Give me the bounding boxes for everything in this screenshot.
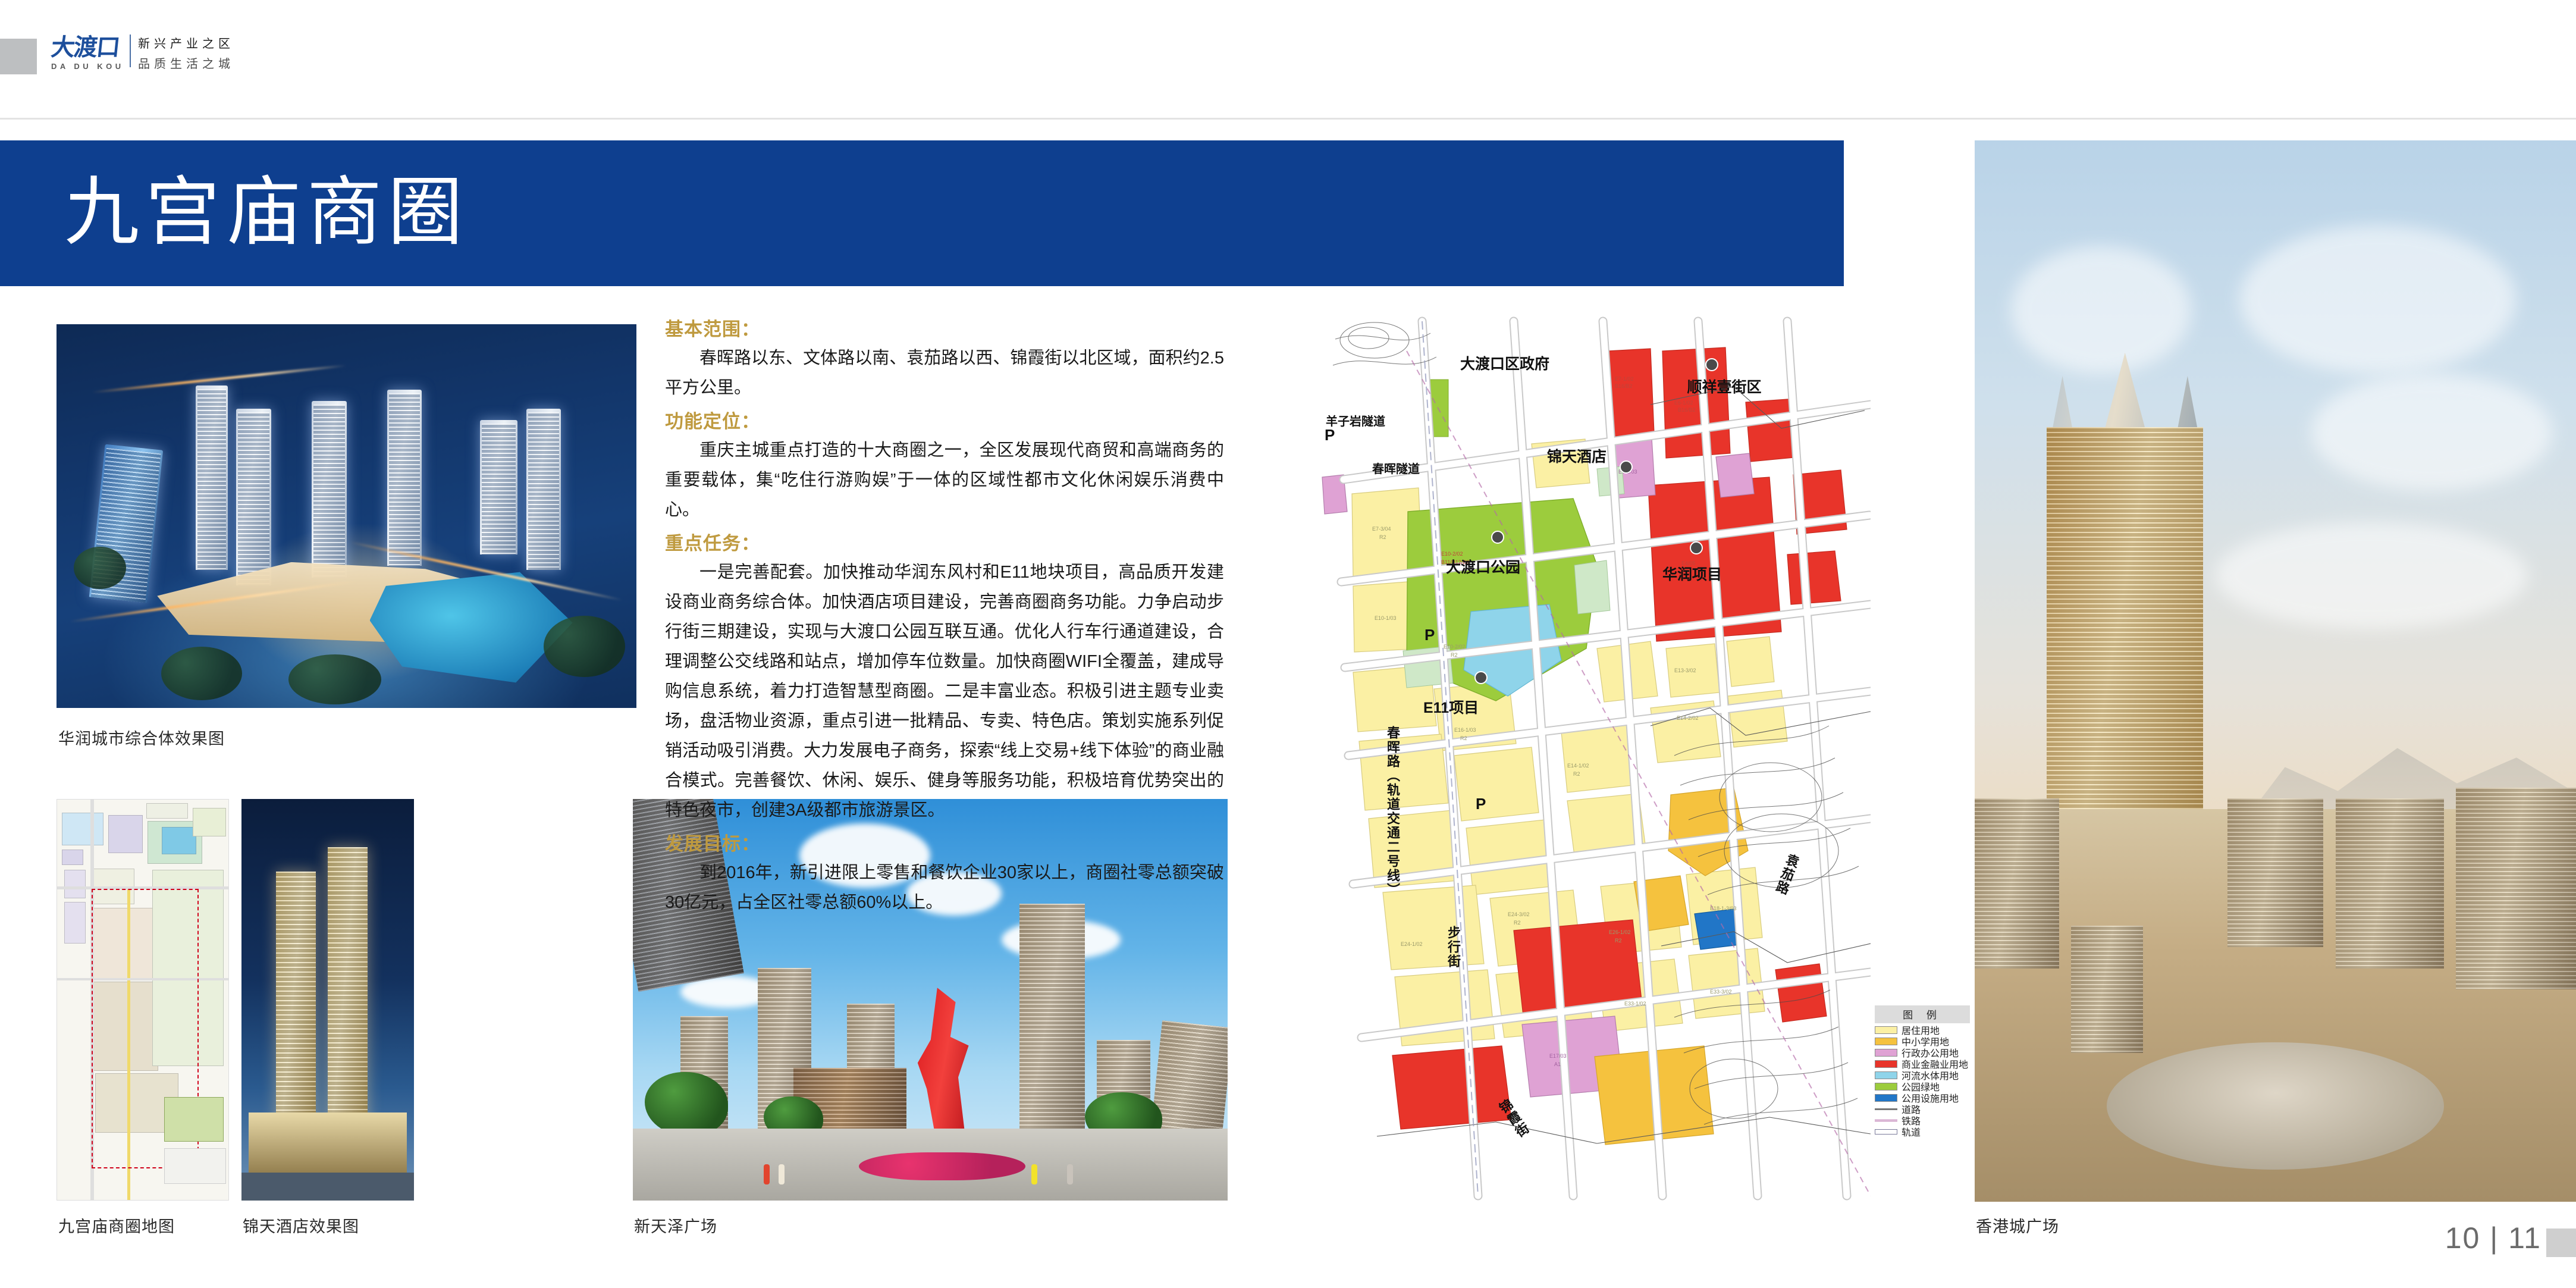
legend-item: 河流水体用地	[1875, 1070, 1970, 1080]
tower	[526, 409, 561, 570]
svg-text:E6-1/02: E6-1/02	[1674, 400, 1693, 406]
photo-huarun-complex	[57, 324, 636, 708]
map-poi-dot	[1690, 541, 1703, 554]
legend-line-railway	[1875, 1120, 1897, 1121]
tower	[196, 386, 228, 570]
svg-text:E16-1/03: E16-1/03	[1454, 727, 1476, 733]
svg-text:B16/B2: B16/B2	[1615, 383, 1633, 389]
map-legend-box	[164, 1097, 224, 1142]
tower	[312, 401, 347, 578]
section-text-goals: 到2016年，新引进限上零售和餐饮企业30家以上，商圈社零总额突破30亿元，占全…	[665, 858, 1224, 917]
map-label-shunxiang-street: 顺祥壹街区	[1683, 376, 1766, 399]
map-block	[62, 813, 103, 845]
svg-text:E18-1-3/03: E18-1-3/03	[1710, 905, 1737, 911]
svg-text:E14-1/02: E14-1/02	[1567, 763, 1589, 769]
body-text-column: 基本范围： 春晖路以东、文体路以南、袁茄路以西、锦霞街以北区域，面积约2.5平方…	[665, 314, 1224, 917]
section-text-position: 重庆主城重点打造的十大商圈之一，全区发展现代商贸和高端商务的重要载体，集“吃住行…	[665, 435, 1224, 525]
legend-item: 道路	[1875, 1104, 1970, 1114]
logo-tagline-line2: 品质生活之城	[138, 54, 234, 71]
svg-text:E7-1/02: E7-1/02	[1615, 376, 1634, 382]
section-heading-goals: 发展目标：	[665, 829, 1224, 855]
map-legend: 图 例 居住用地 中小学用地 行政办公用地 商业金融业用地 河流水体用地 公园绿…	[1875, 1005, 1970, 1136]
svg-text:E24-3/02: E24-3/02	[1508, 911, 1530, 917]
legend-item: 轨道	[1875, 1127, 1970, 1136]
tree-cluster	[288, 654, 381, 704]
map-label-district-government: 大渡口区政府	[1460, 352, 1549, 374]
logo-divider	[130, 35, 131, 67]
section-heading-scope: 基本范围：	[665, 314, 1224, 341]
tree-cluster	[74, 547, 126, 589]
skyline-building	[2456, 788, 2576, 989]
pedestrian	[764, 1164, 770, 1184]
map-poi-dot	[1705, 358, 1718, 371]
page-title: 九宫庙商圈	[64, 175, 469, 250]
map-block	[193, 808, 226, 836]
legend-item: 居住用地	[1875, 1025, 1970, 1035]
svg-text:E13-3/02: E13-3/02	[1674, 667, 1696, 673]
caption-hongkong: 香港城广场	[1976, 1214, 2059, 1237]
tower	[480, 420, 517, 554]
page-number-swatch	[2546, 1229, 2576, 1257]
pedestrian	[779, 1164, 785, 1184]
legend-item: 商业金融业用地	[1875, 1059, 1970, 1068]
map-poi-dot	[1474, 671, 1488, 684]
map-street-pedestrian-street: 步行街	[1444, 926, 1463, 969]
svg-text:R2: R2	[1615, 938, 1622, 944]
map-street-chunhui-tunnel: 春晖隧道	[1372, 459, 1420, 477]
legend-swatch-residential	[1875, 1026, 1897, 1034]
svg-text:E7-3/04: E7-3/04	[1372, 526, 1391, 532]
svg-text:R2: R2	[1451, 652, 1458, 658]
landmark-tower	[1019, 904, 1085, 1137]
logo-corner-swatch	[0, 39, 37, 74]
svg-text:E17/03: E17/03	[1549, 1053, 1567, 1059]
legend-item: 铁路	[1875, 1115, 1970, 1125]
svg-text:A1: A1	[1554, 1061, 1561, 1067]
tree-cluster	[544, 616, 625, 677]
map-block	[146, 803, 188, 819]
zoning-plan-map: E7-3/04 R2 E10-1/03 E10-2/02 R2 E16-1/03…	[1317, 315, 1871, 1202]
legend-item: 中小学用地	[1875, 1036, 1970, 1046]
photo-tourist-map	[57, 799, 229, 1201]
hotel-plaza	[241, 1173, 414, 1201]
legend-line-metro	[1875, 1129, 1897, 1135]
tree-cluster	[161, 647, 243, 700]
map-block	[108, 815, 143, 853]
svg-text:E14-2/02: E14-2/02	[1677, 715, 1699, 721]
legend-swatch-administrative	[1875, 1049, 1897, 1057]
parking-marker-icon: P	[1325, 426, 1335, 444]
map-label-huarun-project: 华润项目	[1662, 563, 1722, 584]
header-divider-rule	[0, 118, 2576, 120]
page-header: 大渡口 DA DU KOU 新兴产业之区 品质生活之城	[0, 0, 2576, 119]
skyline-building	[2336, 798, 2444, 968]
logo-tagline-line1: 新兴产业之区	[138, 34, 234, 51]
flower-bed	[859, 1152, 1025, 1180]
legend-item: 公园绿地	[1875, 1082, 1970, 1091]
map-label-jintian-hotel: 锦天酒店	[1547, 445, 1607, 466]
map-legend-key-box	[164, 1148, 226, 1184]
brochure-page: 大渡口 DA DU KOU 新兴产业之区 品质生活之城 九宫庙商圈 华润城市综合…	[0, 0, 2576, 1288]
cloud	[2311, 374, 2552, 490]
map-label-dadukou-park: 大渡口公园	[1446, 556, 1520, 577]
legend-swatch-utility	[1875, 1094, 1897, 1102]
map-block	[64, 870, 86, 898]
caption-huarun: 华润城市综合体效果图	[58, 726, 225, 749]
logo-wordmark: 大渡口	[50, 35, 127, 61]
legend-swatch-commercial	[1875, 1060, 1897, 1068]
hotel-tower-right	[328, 847, 368, 1129]
caption-tourist-map: 九宫庙商圈地图	[58, 1214, 175, 1237]
tower	[387, 390, 422, 566]
map-poi-dot	[1491, 531, 1504, 544]
cloud	[2011, 246, 2191, 374]
skyline-building	[2227, 798, 2324, 947]
caption-plaza: 新天泽广场	[634, 1214, 717, 1237]
legend-item: 公用设施用地	[1875, 1093, 1970, 1102]
skyline-building	[2071, 926, 2143, 1053]
parking-marker-icon: P	[1425, 626, 1435, 644]
svg-text:E33-3/02: E33-3/02	[1710, 989, 1732, 995]
map-block	[64, 902, 86, 944]
logo-pinyin: DA DU KOU	[51, 62, 128, 71]
hotel-tower-left	[276, 872, 316, 1129]
svg-text:E10-2/02: E10-2/02	[1444, 644, 1466, 650]
svg-text:R2: R2	[1573, 771, 1580, 777]
legend-label: 轨道	[1902, 1124, 1921, 1139]
section-text-scope: 春晖路以东、文体路以南、袁茄路以西、锦霞街以北区域，面积约2.5平方公里。	[665, 343, 1224, 403]
pedestrian	[1067, 1164, 1073, 1184]
legend-line-road	[1875, 1108, 1897, 1110]
legend-swatch-water	[1875, 1071, 1897, 1079]
svg-text:E26-1/02: E26-1/02	[1609, 929, 1631, 935]
cloud	[2239, 225, 2516, 374]
section-heading-tasks: 重点任务：	[665, 528, 1224, 555]
svg-text:B16/B2: B16/B2	[1678, 407, 1696, 413]
photo-hongkong-city-plaza	[1975, 140, 2576, 1202]
parking-marker-icon: P	[1476, 795, 1486, 813]
svg-text:R2: R2	[1514, 920, 1521, 926]
page-number: 10 | 11	[2445, 1221, 2542, 1255]
circular-plaza	[2107, 1042, 2443, 1170]
legend-swatch-park	[1875, 1083, 1897, 1090]
map-street-chunhui-road: 春晖路（轨道交通二号线）	[1383, 726, 1402, 897]
hotel-podium	[249, 1112, 407, 1177]
cloud	[2215, 522, 2528, 628]
section-heading-position: 功能定位：	[665, 406, 1224, 433]
legend-swatch-school	[1875, 1038, 1897, 1045]
lake-area	[162, 827, 196, 854]
legend-title: 图 例	[1875, 1005, 1970, 1023]
map-poi-dot	[1620, 460, 1633, 474]
section-text-tasks: 一是完善配套。加快推动华润东风村和E11地块项目，高品质开发建设商业商务综合体。…	[665, 557, 1224, 825]
caption-hotel: 锦天酒店效果图	[243, 1214, 359, 1237]
map-block	[62, 850, 83, 865]
skyline-building	[1975, 798, 2059, 968]
svg-text:E10-1/03: E10-1/03	[1375, 615, 1397, 621]
photo-jintian-hotel	[241, 799, 414, 1201]
tower	[236, 409, 271, 585]
svg-text:R2: R2	[1379, 534, 1386, 540]
svg-text:E24-1/02: E24-1/02	[1401, 941, 1423, 947]
svg-text:R2: R2	[1460, 735, 1467, 741]
map-label-e11-project: E11项目	[1423, 696, 1479, 717]
legend-item: 行政办公用地	[1875, 1048, 1970, 1057]
pedestrian	[1031, 1164, 1037, 1184]
svg-text:E33-1/02: E33-1/02	[1624, 1001, 1646, 1007]
